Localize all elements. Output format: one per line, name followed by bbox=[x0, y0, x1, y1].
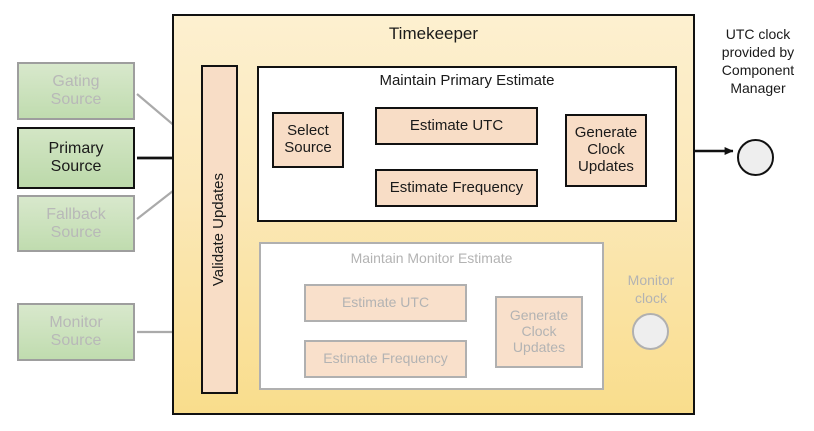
monitor-generate-clock-label-line2: Clock bbox=[510, 324, 568, 340]
generate-clock-label-line2: Clock bbox=[575, 142, 638, 159]
select-source-box[interactable]: Select Source bbox=[272, 112, 344, 168]
utc-caption-line3: Component bbox=[706, 62, 810, 80]
monitor-generate-clock-label-line1: Generate bbox=[510, 308, 568, 324]
monitor-estimate-utc-box[interactable]: Estimate UTC bbox=[304, 284, 467, 322]
monitor-caption-line1: Monitor bbox=[608, 272, 694, 290]
monitor-estimate-frequency-box[interactable]: Estimate Frequency bbox=[304, 340, 467, 378]
source-primary-label-line2: Source bbox=[48, 158, 103, 176]
diagram-canvas: Timekeeper Gating Source Primary Source … bbox=[0, 0, 814, 431]
validate-updates-label: Validate Updates bbox=[211, 173, 228, 286]
source-monitor-label-line1: Monitor bbox=[49, 314, 102, 332]
monitor-generate-clock-updates-box[interactable]: Generate Clock Updates bbox=[495, 296, 583, 368]
utc-caption-line1: UTC clock bbox=[706, 26, 810, 44]
source-fallback-label-line2: Source bbox=[46, 224, 106, 242]
source-box-primary[interactable]: Primary Source bbox=[17, 127, 135, 189]
select-source-label-line1: Select bbox=[284, 123, 332, 140]
estimate-frequency-label: Estimate Frequency bbox=[390, 180, 523, 197]
monitor-generate-clock-label-line3: Updates bbox=[510, 340, 568, 356]
monitor-estimate-frequency-label: Estimate Frequency bbox=[323, 351, 448, 367]
source-box-monitor[interactable]: Monitor Source bbox=[17, 303, 135, 361]
timekeeper-title: Timekeeper bbox=[172, 24, 695, 44]
estimate-utc-label: Estimate UTC bbox=[410, 118, 503, 135]
generate-clock-label-line1: Generate bbox=[575, 125, 638, 142]
select-source-label-line2: Source bbox=[284, 140, 332, 157]
estimate-utc-box[interactable]: Estimate UTC bbox=[375, 107, 538, 145]
generate-clock-updates-box[interactable]: Generate Clock Updates bbox=[565, 114, 647, 187]
monitor-estimate-utc-label: Estimate UTC bbox=[342, 295, 429, 311]
maintain-primary-estimate-title: Maintain Primary Estimate bbox=[257, 72, 677, 89]
maintain-monitor-estimate-title: Maintain Monitor Estimate bbox=[259, 250, 604, 266]
estimate-frequency-box[interactable]: Estimate Frequency bbox=[375, 169, 538, 207]
utc-clock-icon bbox=[737, 139, 774, 176]
utc-clock-caption: UTC clock provided by Component Manager bbox=[706, 26, 810, 98]
monitor-clock-caption: Monitor clock bbox=[608, 272, 694, 308]
source-box-fallback[interactable]: Fallback Source bbox=[17, 195, 135, 252]
utc-caption-line2: provided by bbox=[706, 44, 810, 62]
source-box-gating[interactable]: Gating Source bbox=[17, 62, 135, 120]
source-primary-label-line1: Primary bbox=[48, 140, 103, 158]
source-gating-label-line2: Source bbox=[51, 91, 102, 109]
utc-caption-line4: Manager bbox=[706, 80, 810, 98]
monitor-clock-icon bbox=[632, 313, 669, 350]
monitor-caption-line2: clock bbox=[608, 290, 694, 308]
source-gating-label-line1: Gating bbox=[51, 73, 102, 91]
source-monitor-label-line2: Source bbox=[49, 332, 102, 350]
validate-updates-box[interactable]: Validate Updates bbox=[201, 65, 238, 394]
generate-clock-label-line3: Updates bbox=[575, 159, 638, 176]
source-fallback-label-line1: Fallback bbox=[46, 206, 106, 224]
